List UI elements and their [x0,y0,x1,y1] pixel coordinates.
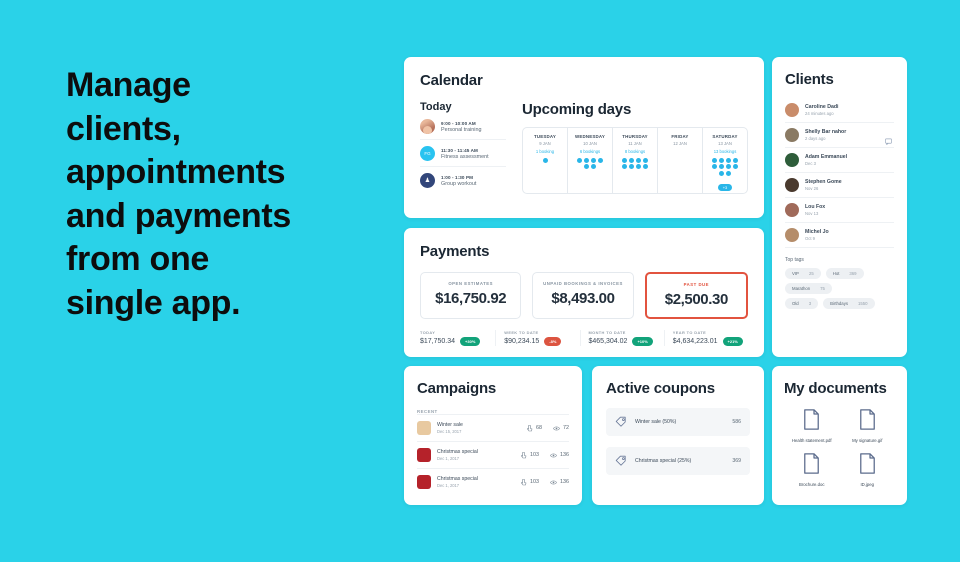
client-name: Stephen Gome [805,179,842,185]
stat-value: $4,634,223.01 [673,338,718,345]
avatar [785,103,799,117]
upcoming-days-column: Upcoming days TUESDAY9 JAN1 bookingWEDNE… [512,101,748,194]
client-timestamp: Nov 13 [805,211,825,216]
stat-label: MONTH TO DATE [589,330,664,335]
client-list: Caroline Dadi24 minutes agoShelly Bar na… [785,98,894,248]
document-name: Health statement.pdf [784,438,840,444]
headline-line: Manage [66,64,396,108]
file-icon [859,453,876,474]
booking-dot [643,164,648,169]
stat-value: $17,750.34 [420,338,455,345]
promo-canvas: Manage clients, appointments and payment… [0,0,960,562]
file-icon [859,409,876,430]
client-row[interactable]: Michel JoOct 9 [785,223,894,248]
stat-delta-badge: +10% [632,337,652,346]
client-timestamp: Oct 9 [805,236,829,241]
day-column[interactable]: TUESDAY9 JAN1 booking [523,128,568,193]
click-icon [527,425,533,432]
campaign-name: Winter sale [437,422,516,428]
client-row[interactable]: Caroline Dadi24 minutes ago [785,98,894,123]
day-column[interactable]: SATURDAY13 JAN13 bookings+3 [703,128,747,193]
tag-count: 369 [849,271,856,276]
payment-box-label: UNPAID BOOKINGS & INVOICES [537,281,628,286]
payment-box-label: PAST DUE [651,282,742,287]
day-column[interactable]: THURSDAY11 JAN8 bookings [613,128,658,193]
tag-name: VIP [792,271,799,276]
booking-dots [526,158,564,163]
campaign-clicks: 68 [527,425,542,432]
booking-dot [733,164,738,169]
upcoming-days-label: Upcoming days [522,101,748,118]
booking-dot [584,158,589,163]
documents-title: My documents [784,380,895,397]
more-bookings-badge[interactable]: +3 [718,184,733,191]
client-row[interactable]: Lou FoxNov 13 [785,198,894,223]
headline-line: clients, [66,108,396,152]
stat-value: $90,234.15 [504,338,539,345]
eye-icon [550,452,557,459]
eye-icon [550,479,557,486]
booking-dot [622,164,627,169]
payment-box-label: OPEN ESTIMATES [425,281,516,286]
stat-delta-badge: +30% [460,337,480,346]
day-date: 9 JAN [526,141,564,146]
clients-card: Clients Caroline Dadi24 minutes agoShell… [772,57,907,357]
payment-box-open-estimates[interactable]: OPEN ESTIMATES $16,750.92 [420,272,521,319]
booking-dot [591,158,596,163]
coupon-name: Winter sale (50%) [635,419,732,425]
tag-name: Hot [833,271,840,276]
campaign-thumbnail [417,421,431,435]
payment-box-unpaid[interactable]: UNPAID BOOKINGS & INVOICES $8,493.00 [532,272,633,319]
booking-dot [629,158,634,163]
campaigns-title: Campaigns [417,380,569,397]
client-name: Michel Jo [805,229,829,235]
client-row[interactable]: Stephen GomeNov 26 [785,173,894,198]
clients-title: Clients [785,71,894,88]
file-icon [803,453,820,474]
payment-stat: YEAR TO DATE$4,634,223.01+21% [664,330,748,346]
campaign-date: Dec 1, 2017 [437,483,510,488]
document-item[interactable]: My signature.gif [840,409,896,444]
stat-label: YEAR TO DATE [673,330,748,335]
appointment-row[interactable]: FG 11:30 - 11:45 AM Fitness assessment [420,140,506,167]
campaign-date: Dec 1, 2017 [437,456,510,461]
day-name: THURSDAY [616,134,654,139]
booking-dot [726,158,731,163]
tag-pill[interactable]: Marathon75 [785,283,832,294]
headline-line: and payments [66,195,396,239]
day-name: FRIDAY [661,134,699,139]
campaigns-card: Campaigns RECENT Winter saleDec 15, 2017… [404,366,582,505]
headline-line: appointments [66,151,396,195]
headline-line: from one [66,238,396,282]
coupon-list: Winter sale (50%)586Christmas special (2… [606,408,750,475]
coupons-title: Active coupons [606,380,750,397]
tag-count: 1550 [858,301,868,306]
coupon-row[interactable]: Christmas special (25%)369 [606,447,750,475]
client-name: Caroline Dadi [805,104,838,110]
today-column: Today 9:00 - 10:00 AM Personal training … [420,101,512,194]
campaign-clicks: 103 [521,479,539,486]
day-date: 10 JAN [571,141,609,146]
avatar [785,178,799,192]
booking-dot [636,164,641,169]
tag-name: Old [792,301,799,306]
avatar [785,203,799,217]
day-date: 12 JAN [661,141,699,146]
campaign-thumbnail [417,448,431,462]
tag-count: 75 [820,286,825,291]
booking-dot [577,158,582,163]
booking-dot [726,171,731,176]
campaign-row[interactable]: Christmas specialDec 1, 2017103136 [417,441,569,468]
client-timestamp: 24 minutes ago [805,111,838,116]
appointment-name: Personal training [441,127,481,133]
tag-pill[interactable]: Old3 [785,298,818,309]
avatar [785,228,799,242]
booking-dot [629,164,634,169]
file-icon [803,409,820,430]
stat-label: TODAY [420,330,495,335]
campaign-list: Winter saleDec 15, 20176872Christmas spe… [417,414,569,495]
tag-pill[interactable]: Birthdays1550 [823,298,874,309]
avatar [420,119,435,134]
client-name: Lou Fox [805,204,825,210]
booking-dot [712,164,717,169]
client-row[interactable]: Shelly Bar nahor2 days ago [785,123,894,148]
click-icon [521,479,527,486]
payment-box-past-due[interactable]: PAST DUE $2,500.30 [645,272,748,319]
click-icon [521,452,527,459]
booking-dot [584,164,589,169]
document-name: ID.jpeg [840,482,896,488]
upcoming-days-grid: TUESDAY9 JAN1 bookingWEDNESDAY10 JAN6 bo… [522,127,748,194]
appointment-list: 9:00 - 10:00 AM Personal training FG 11:… [420,113,506,193]
booking-dots [571,158,609,170]
campaign-views: 72 [553,425,569,432]
tag-name: Marathon [792,286,810,291]
document-item[interactable]: Health statement.pdf [784,409,840,444]
booking-dot [719,171,724,176]
tag-count: 25 [809,271,814,276]
day-name: SATURDAY [706,134,744,139]
day-date: 11 JAN [616,141,654,146]
booking-dot [733,158,738,163]
payment-stats-row: TODAY$17,750.34+30%WEEK TO DATE$90,234.1… [420,330,748,346]
client-row[interactable]: Adam EmmanuelDec 3 [785,148,894,173]
tag-row: Marathon75 [785,283,894,294]
day-bookings: 8 bookings [616,149,654,154]
document-item[interactable]: Brochure.doc [784,453,840,488]
booking-dot [719,158,724,163]
day-date: 13 JAN [706,141,744,146]
appointment-row[interactable]: 9:00 - 10:00 AM Personal training [420,113,506,140]
campaign-thumbnail [417,475,431,489]
document-grid: Health statement.pdfMy signature.gifBroc… [784,409,895,497]
payment-box-value: $8,493.00 [537,290,628,307]
client-timestamp: 2 days ago [805,136,846,141]
day-bookings: 1 booking [526,149,564,154]
booking-dot [726,164,731,169]
appointment-time: 11:30 - 11:45 AM [441,148,489,153]
avatar [785,128,799,142]
document-item[interactable]: ID.jpeg [840,453,896,488]
day-column[interactable]: FRIDAY12 JAN [658,128,703,193]
tag-row: VIP25Hot369 [785,268,894,279]
calendar-title: Calendar [420,72,748,89]
coupon-count: 369 [732,458,741,464]
booking-dots [706,158,744,177]
booking-dot [719,164,724,169]
tag-icon [615,455,627,467]
tag-pill[interactable]: Hot369 [826,268,864,279]
payment-box-value: $16,750.92 [425,290,516,307]
day-bookings: 13 bookings [706,149,744,154]
campaign-date: Dec 15, 2017 [437,429,516,434]
client-name: Adam Emmanuel [805,154,847,160]
day-name: TUESDAY [526,134,564,139]
appointment-time: 1:00 - 1:30 PM [441,175,476,180]
stat-value: $465,304.02 [589,338,628,345]
campaign-row[interactable]: Christmas specialDec 1, 2017103136 [417,468,569,495]
stat-delta-badge: -8% [544,337,561,346]
avatar [785,153,799,167]
document-name: My signature.gif [840,438,896,444]
tag-count: 3 [809,301,811,306]
booking-dot [543,158,548,163]
appointment-name: Group workout [441,181,476,187]
payment-stat: MONTH TO DATE$465,304.02+10% [580,330,664,346]
client-timestamp: Dec 3 [805,161,847,166]
avatar: ♟ [420,173,435,188]
booking-dot [636,158,641,163]
appointment-time: 9:00 - 10:00 AM [441,121,481,126]
avatar: FG [420,146,435,161]
day-column[interactable]: WEDNESDAY10 JAN6 bookings [568,128,613,193]
booking-dots [616,158,654,170]
appointment-name: Fitness assessment [441,154,489,160]
day-name: WEDNESDAY [571,134,609,139]
stat-label: WEEK TO DATE [504,330,579,335]
payment-stat: TODAY$17,750.34+30% [420,330,495,346]
document-name: Brochure.doc [784,482,840,488]
documents-card: My documents Health statement.pdfMy sign… [772,366,907,505]
day-bookings: 6 bookings [571,149,609,154]
booking-dot [598,158,603,163]
payment-stat: WEEK TO DATE$90,234.15-8% [495,330,579,346]
booking-dot [643,158,648,163]
campaign-name: Christmas special [437,449,510,455]
tag-name: Birthdays [830,301,848,306]
payment-box-value: $2,500.30 [651,291,742,308]
campaign-clicks: 103 [521,452,539,459]
client-name: Shelly Bar nahor [805,129,846,135]
appointment-row[interactable]: ♟ 1:00 - 1:30 PM Group workout [420,167,506,193]
page-title: Manage clients, appointments and payment… [66,64,396,325]
coupon-name: Christmas special (25%) [635,458,732,464]
coupon-count: 586 [732,419,741,425]
coupon-row[interactable]: Winter sale (50%)586 [606,408,750,436]
payments-card: Payments OPEN ESTIMATES $16,750.92 UNPAI… [404,228,764,357]
campaign-row[interactable]: Winter saleDec 15, 20176872 [417,414,569,441]
today-label: Today [420,101,506,113]
booking-dot [622,158,627,163]
headline-line: single app. [66,282,396,326]
stat-delta-badge: +21% [723,337,743,346]
booking-dot [591,164,596,169]
tag-row: Old3Birthdays1550 [785,298,894,309]
calendar-card: Calendar Today 9:00 - 10:00 AM Personal … [404,57,764,218]
coupons-card: Active coupons Winter sale (50%)586Chris… [592,366,764,505]
top-tags-list: VIP25Hot369Marathon75Old3Birthdays1550 [785,268,894,309]
top-tags-label: Top tags [785,257,894,263]
eye-icon [553,425,560,432]
campaign-name: Christmas special [437,476,510,482]
tag-pill[interactable]: VIP25 [785,268,821,279]
client-timestamp: Nov 26 [805,186,842,191]
tag-icon [615,416,627,428]
campaign-views: 136 [550,452,569,459]
campaign-views: 136 [550,479,569,486]
booking-dot [712,158,717,163]
payments-title: Payments [420,243,748,260]
